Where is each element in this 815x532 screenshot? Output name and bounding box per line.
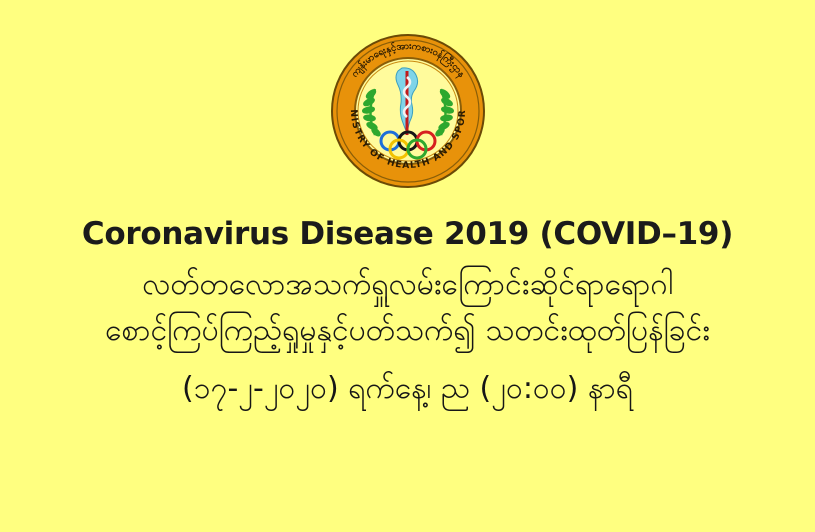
emblem-container: ကျန်းမာရေးနှင့်အားကစားဝန်ကြီးဌာန MINISTR… [0, 31, 815, 193]
headline-burmese-line-2: စောင့်ကြပ်ကြည့်ရှုမှုနှင့်ပတ်သက်၍ သတင်းထ… [0, 308, 815, 354]
headline-burmese-datetime: (၁၇-၂-၂၀၂၀) ရက်နေ့၊ ည (၂၀:၀၀) နာရီ [0, 366, 815, 412]
headline-block: Coronavirus Disease 2019 (COVID–19) လတ်တ… [0, 214, 815, 412]
page-title-english: Coronavirus Disease 2019 (COVID–19) [0, 214, 815, 254]
ministry-seal-icon: ကျန်းမာရေးနှင့်အားကစားဝန်ကြီးဌာန MINISTR… [328, 31, 488, 191]
headline-burmese-line-1: လတ်တလောအသက်ရှူလမ်းကြောင်းဆိုင်ရာရောဂါ [0, 262, 815, 308]
press-release-slide: ကျန်းမာရေးနှင့်အားကစားဝန်ကြီးဌာန MINISTR… [0, 0, 815, 532]
